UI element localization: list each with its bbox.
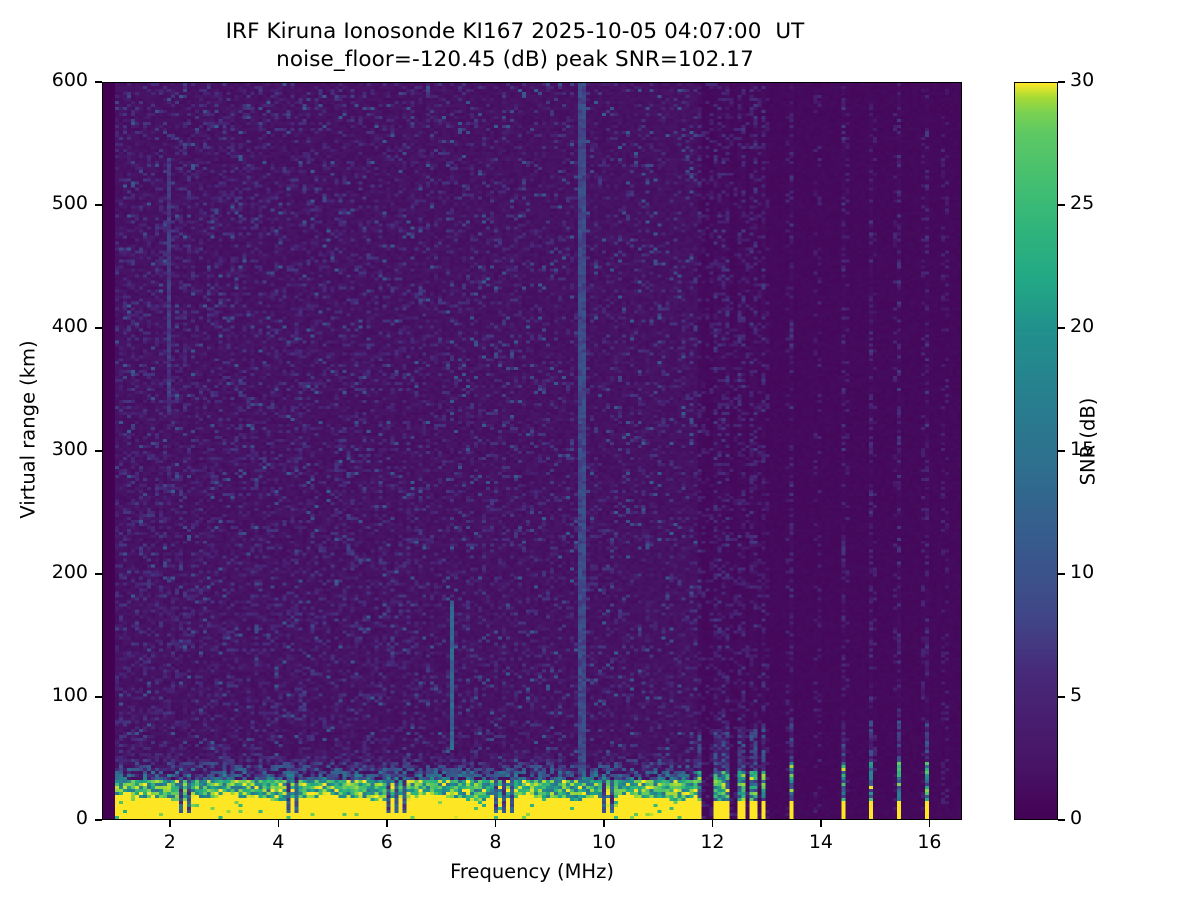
chart-title: IRF Kiruna Ionosonde KI167 2025-10-05 04… [0, 18, 1030, 75]
colorbar-label: SNR (dB) [1077, 272, 1100, 612]
colorbar-tick [1058, 204, 1065, 205]
colorbar-tick-label: 25 [1070, 192, 1094, 214]
y-tick [95, 204, 102, 205]
x-tick [386, 820, 387, 827]
ionogram-figure: IRF Kiruna Ionosonde KI167 2025-10-05 04… [0, 0, 1200, 900]
y-tick-label: 0 [76, 807, 88, 829]
x-tick [712, 820, 713, 827]
y-tick [95, 81, 102, 82]
x-tick [929, 820, 930, 827]
x-tick-label: 8 [465, 831, 525, 853]
x-tick-label: 2 [140, 831, 200, 853]
x-tick [169, 820, 170, 827]
x-tick-label: 12 [682, 831, 742, 853]
y-tick-label: 400 [52, 315, 88, 337]
x-tick-label: 16 [899, 831, 959, 853]
y-tick-label: 300 [52, 438, 88, 460]
colorbar-tick-label: 5 [1070, 684, 1082, 706]
colorbar-tick [1058, 819, 1065, 820]
x-tick-label: 6 [357, 831, 417, 853]
y-tick-label: 100 [52, 684, 88, 706]
x-tick-label: 4 [248, 831, 308, 853]
y-tick-label: 200 [52, 561, 88, 583]
x-tick-label: 10 [574, 831, 634, 853]
colorbar-tick [1058, 573, 1065, 574]
y-tick [95, 327, 102, 328]
x-tick [278, 820, 279, 827]
title-line-2: noise_floor=-120.45 (dB) peak SNR=102.17 [0, 46, 1030, 74]
x-tick-label: 14 [791, 831, 851, 853]
y-axis-label: Virtual range (km) [17, 170, 40, 690]
ionogram-heatmap [103, 83, 961, 819]
title-line-1: IRF Kiruna Ionosonde KI167 2025-10-05 04… [0, 18, 1030, 46]
x-tick [603, 820, 604, 827]
colorbar-tick-label: 30 [1070, 69, 1094, 91]
y-tick [95, 696, 102, 697]
x-tick [820, 820, 821, 827]
y-tick [95, 450, 102, 451]
colorbar-tick [1058, 696, 1065, 697]
y-tick [95, 573, 102, 574]
y-tick-label: 500 [52, 192, 88, 214]
colorbar-tick-label: 0 [1070, 807, 1082, 829]
y-tick-label: 600 [52, 69, 88, 91]
colorbar-tick [1058, 327, 1065, 328]
colorbar-tick [1058, 450, 1065, 451]
y-tick [95, 819, 102, 820]
colorbar-tick [1058, 81, 1065, 82]
x-tick [495, 820, 496, 827]
colorbar [1014, 82, 1058, 820]
x-axis-label: Frequency (MHz) [102, 860, 962, 883]
plot-area [102, 82, 962, 820]
